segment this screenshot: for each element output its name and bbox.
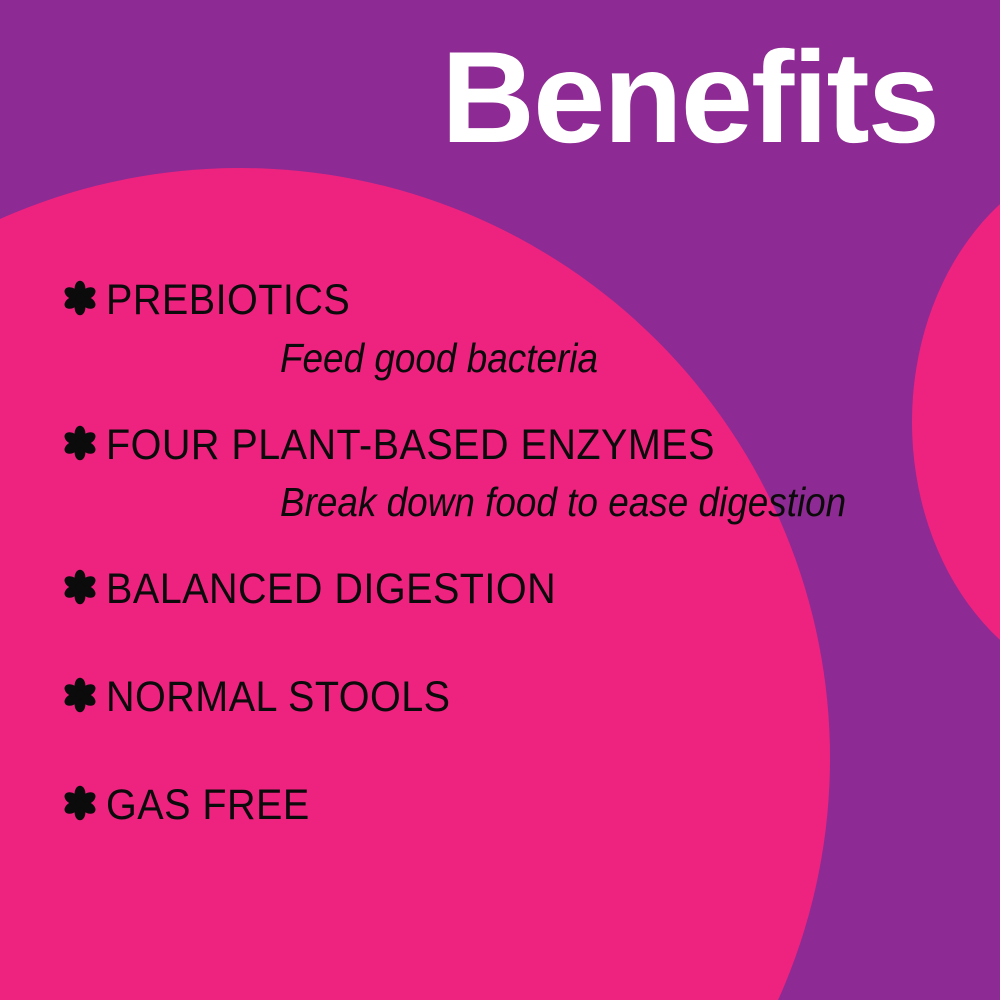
flower-asterisk-bullet-icon [62, 280, 106, 316]
benefits-list: PREBIOTICS Feed good bacteria [0, 278, 1000, 828]
benefit-title: PREBIOTICS [106, 278, 350, 324]
flower-asterisk-bullet-icon [62, 677, 106, 713]
spacer [0, 721, 1000, 783]
benefit-subtitle: Break down food to ease digestion [280, 480, 928, 525]
benefit-subtitle: Feed good bacteria [280, 336, 928, 381]
spacer [0, 525, 1000, 567]
list-item: NORMAL STOOLS [0, 675, 1000, 721]
benefits-graphic: Benefits [0, 0, 1000, 1000]
flower-asterisk-bullet-icon [62, 569, 106, 605]
list-item: PREBIOTICS Feed good bacteria [0, 278, 1000, 381]
benefit-title: NORMAL STOOLS [106, 675, 451, 721]
benefit-title: BALANCED DIGESTION [106, 567, 556, 613]
benefit-title: GAS FREE [106, 783, 310, 829]
spacer [0, 613, 1000, 675]
page-title: Benefits [441, 32, 938, 162]
flower-asterisk-bullet-icon [62, 425, 106, 461]
list-item: FOUR PLANT-BASED ENZYMES Break down food… [0, 423, 1000, 526]
spacer [0, 381, 1000, 423]
flower-asterisk-bullet-icon [62, 785, 106, 821]
list-item: GAS FREE [0, 783, 1000, 829]
list-item: BALANCED DIGESTION [0, 567, 1000, 613]
benefit-title: FOUR PLANT-BASED ENZYMES [106, 423, 715, 469]
